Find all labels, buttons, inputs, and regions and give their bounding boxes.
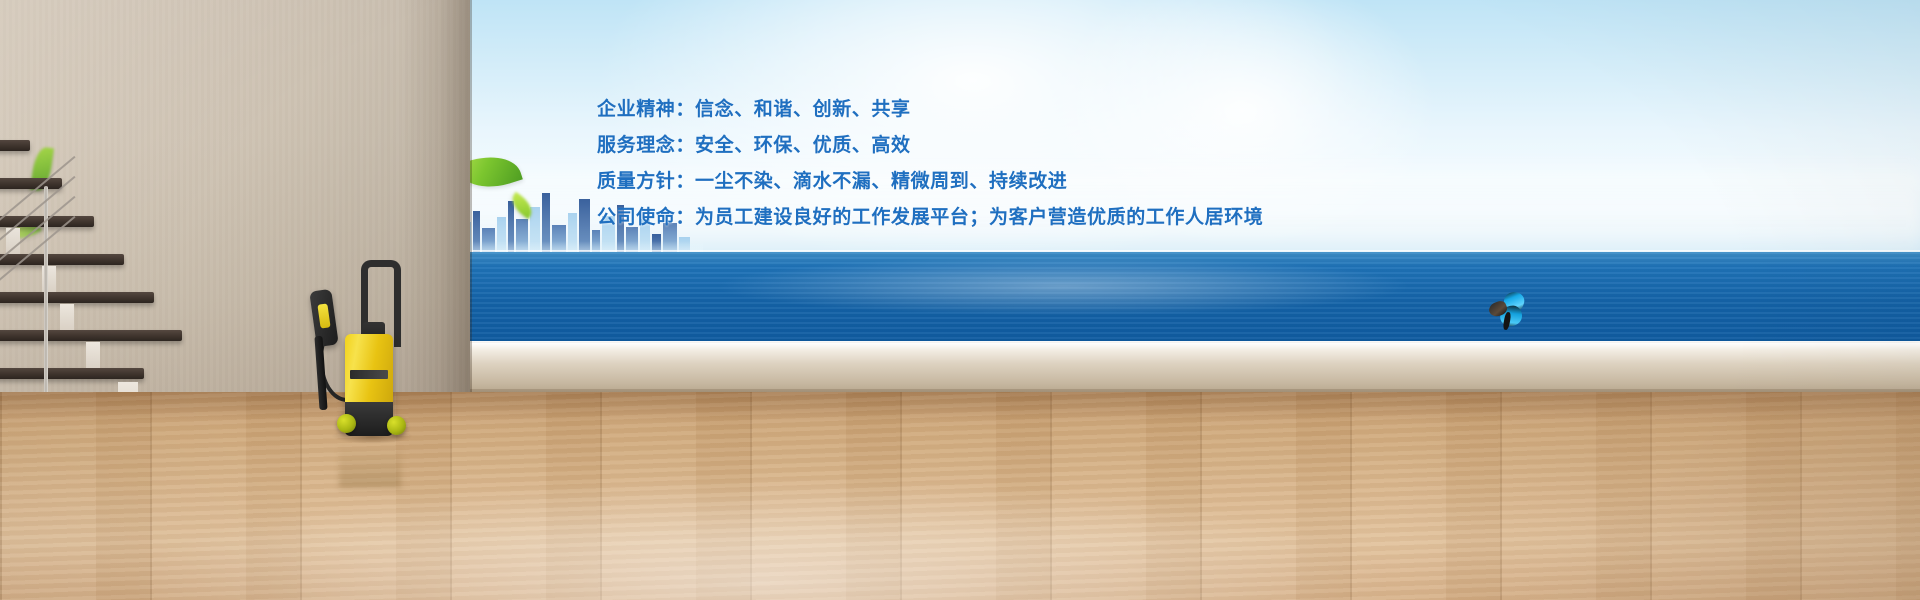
sea-sparkle [713, 256, 1413, 316]
philosophy-line-3: 质量方针：一尘不染、滴水不漏、精微周到、持续改进 [597, 164, 1357, 200]
philosophy-line-2: 服务理念：安全、环保、优质、高效 [597, 128, 1357, 164]
machine-wheel [387, 416, 406, 435]
staircase [0, 140, 225, 395]
philosophy-line-1: 企业精神：信念、和谐、创新、共享 [597, 92, 1357, 128]
philosophy-text-block: 企业精神：信念、和谐、创新、共享 服务理念：安全、环保、优质、高效 质量方针：一… [597, 92, 1357, 236]
machine-label [350, 370, 388, 379]
machine-reflection [339, 444, 401, 488]
machine-wheel [337, 414, 356, 433]
window-sill [399, 343, 1920, 395]
floor-shadow-right [1400, 392, 1920, 600]
company-culture-banner: 企业精神：信念、和谐、创新、共享 服务理念：安全、环保、优质、高效 质量方针：一… [0, 0, 1920, 600]
philosophy-line-4: 公司使命：为员工建设良好的工作发展平台；为客户营造优质的工作人居环境 [597, 200, 1357, 236]
pressure-washer [305, 252, 423, 457]
butterfly-icon [1488, 290, 1534, 332]
